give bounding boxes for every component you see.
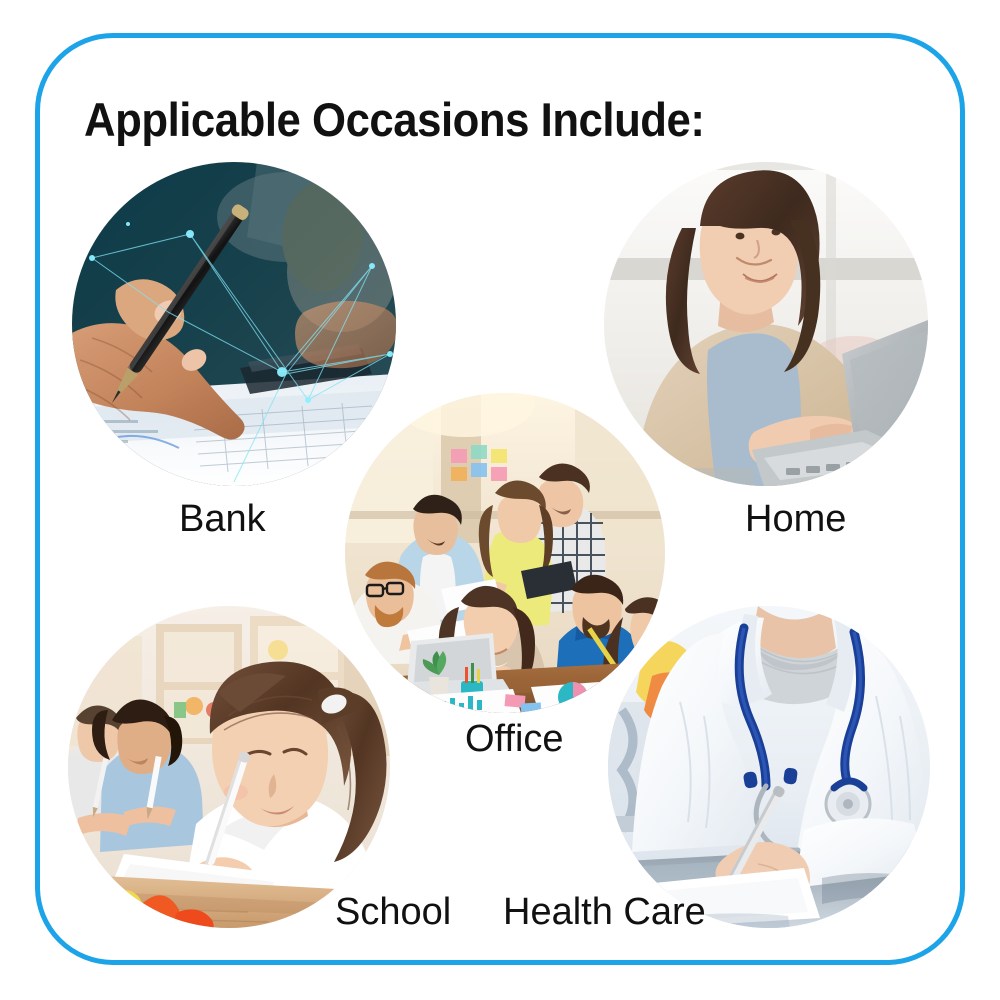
school-photo (68, 606, 390, 928)
occasion-label-health: Health Care (503, 893, 706, 931)
occasion-label-bank: Bank (179, 500, 266, 538)
occasion-label-school: School (335, 893, 451, 931)
infographic-page: Applicable Occasions Include: (0, 0, 1000, 1000)
page-title: Applicable Occasions Include: (84, 92, 704, 147)
occasion-tile-school[interactable] (68, 606, 390, 928)
occasion-tile-health[interactable] (608, 606, 930, 928)
occasion-label-home: Home (745, 500, 846, 538)
occasion-label-office: Office (465, 720, 564, 758)
health-photo (608, 606, 930, 928)
